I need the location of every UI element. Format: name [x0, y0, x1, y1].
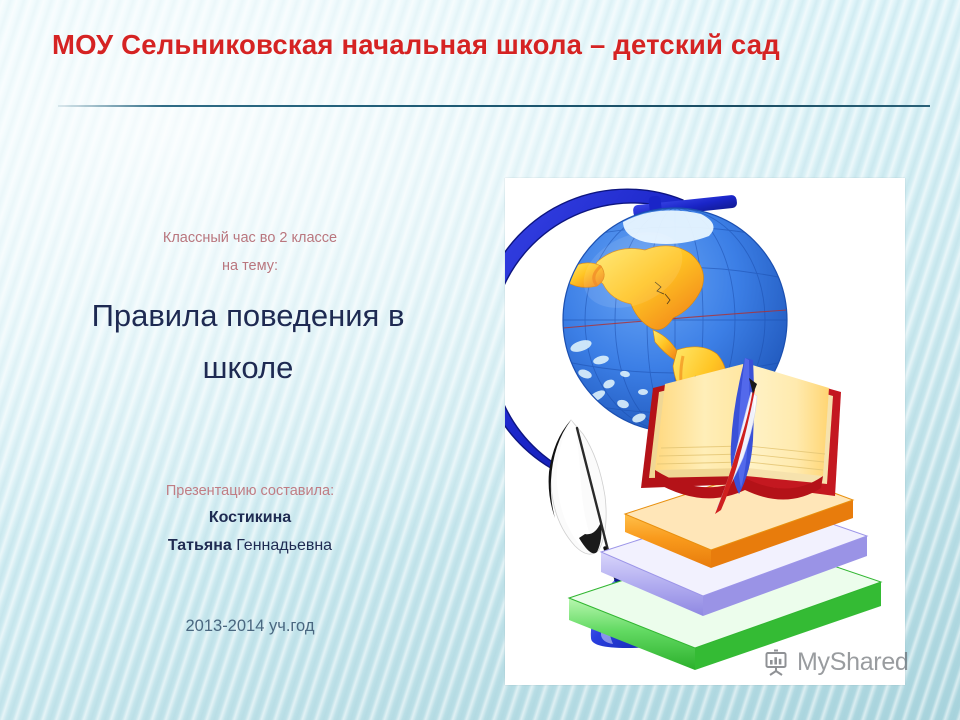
myshared-watermark: MyShared [762, 648, 909, 677]
illustration-panel [505, 178, 905, 685]
author-patronymic: Геннадьевна [236, 537, 332, 554]
watermark-label: MyShared [797, 648, 909, 677]
author-surname: Костикина [60, 509, 440, 527]
presentation-slide: МОУ Сельниковская начальная школа – детс… [0, 0, 960, 720]
credit-label: Презентацию составила: [60, 483, 440, 499]
main-title-line-2: школе [203, 350, 294, 385]
subhead-line-2: на тему: [60, 252, 440, 280]
globe-and-books-clipart [505, 178, 905, 685]
subhead-block: Классный час во 2 классе на тему: [60, 224, 440, 280]
subhead-line-1: Классный час во 2 классе [163, 230, 337, 246]
slide-main-title: Правила поведения в школе [48, 290, 448, 394]
main-title-line-1: Правила поведения в [92, 298, 405, 333]
author-given-names: Татьяна Геннадьевна [60, 537, 440, 555]
author-first-name: Татьяна [168, 537, 232, 554]
header-divider-rule [58, 105, 930, 107]
presentation-board-icon [762, 649, 790, 677]
slide-header-title: МОУ Сельниковская начальная школа – детс… [52, 29, 932, 61]
academic-year: 2013-2014 уч.год [60, 617, 440, 636]
